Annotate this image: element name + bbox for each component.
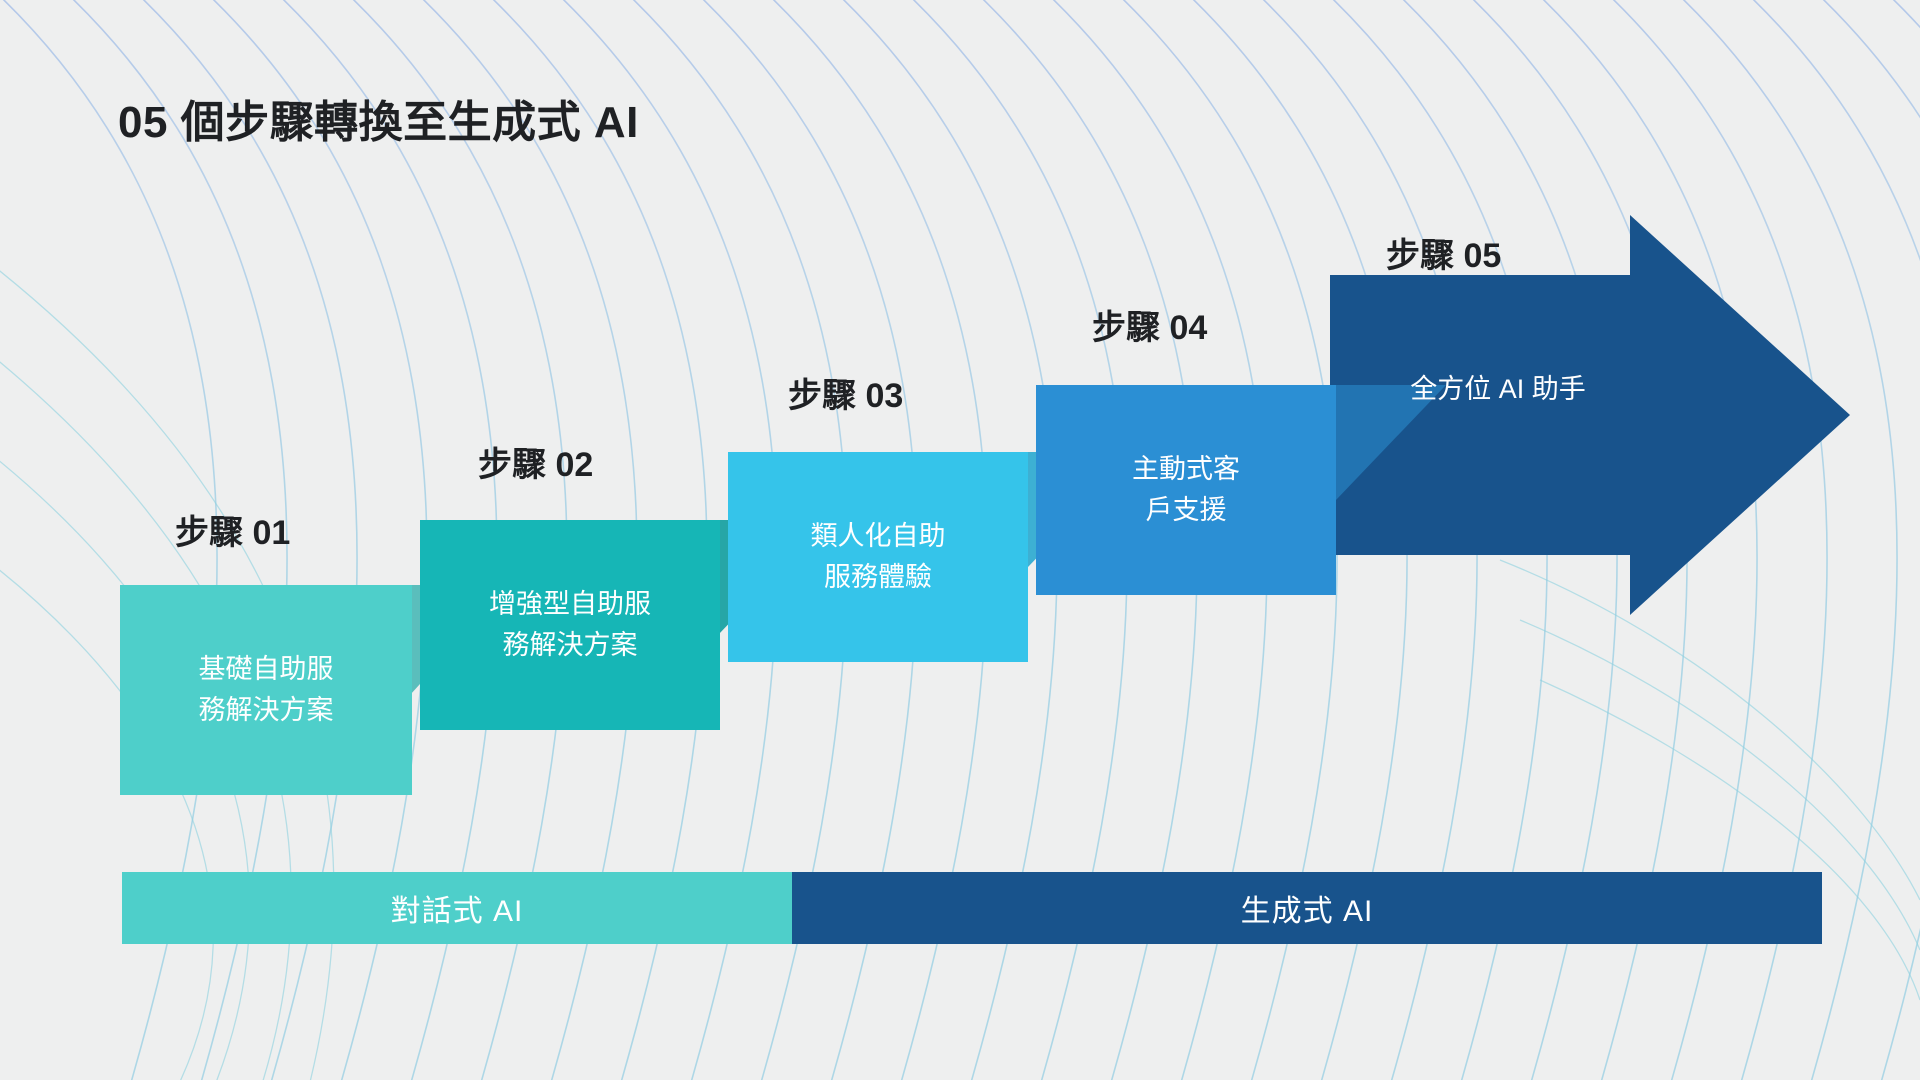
step-box-2[interactable]: 增強型自助服 務解決方案 (420, 520, 720, 730)
step-label-1: 步驟 01 (175, 505, 290, 554)
step-label-5: 步驟 05 (1386, 228, 1501, 277)
step-label-3: 步驟 03 (788, 368, 903, 417)
infographic-canvas: 步驟 01 基礎自助服 務解決方案 步驟 02 增強型自助服 務解決方案 步驟 … (0, 0, 1920, 1080)
step-label-4: 步驟 04 (1092, 300, 1207, 349)
step-box-4[interactable]: 主動式客 戶支援 (1036, 385, 1336, 595)
step-text-4: 主動式客 戶支援 (1132, 449, 1240, 531)
category-label-0: 對話式 AI (391, 886, 524, 930)
step-label-2: 步驟 02 (478, 437, 593, 486)
step-text-3: 類人化自助 服務體驗 (811, 516, 946, 598)
category-segment-conversational-ai[interactable]: 對話式 AI (122, 872, 792, 944)
category-segment-generative-ai[interactable]: 生成式 AI (792, 872, 1822, 944)
step-text-5: 全方位 AI 助手 (1410, 369, 1586, 410)
step-text-1: 基礎自助服 務解決方案 (199, 649, 334, 731)
category-bar: 對話式 AI 生成式 AI (122, 872, 1822, 944)
step-box-3[interactable]: 類人化自助 服務體驗 (728, 452, 1028, 662)
category-label-1: 生成式 AI (1241, 886, 1374, 930)
page-title: 05 個步驟轉換至生成式 AI (118, 86, 639, 150)
step-box-1[interactable]: 基礎自助服 務解決方案 (120, 585, 412, 795)
step-text-2: 增強型自助服 務解決方案 (489, 584, 651, 666)
step-box-5[interactable]: 全方位 AI 助手 (1338, 320, 1658, 460)
